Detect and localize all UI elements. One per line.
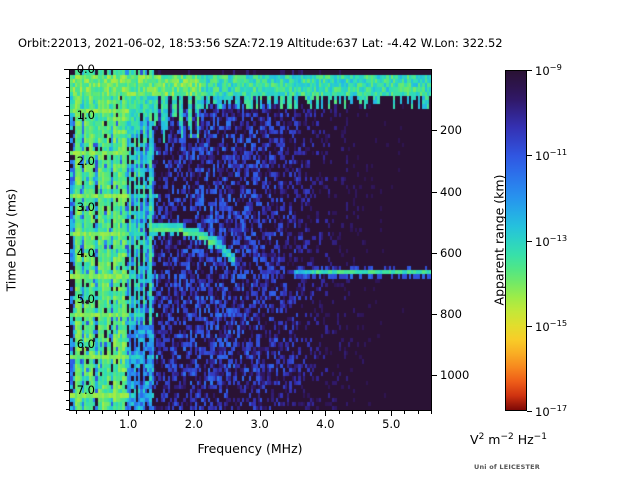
x-tick xyxy=(260,411,261,416)
x-minor-tick xyxy=(154,411,155,414)
x-tick-label: 4.0 xyxy=(316,417,334,431)
x-minor-tick xyxy=(233,411,234,414)
institution-credit: Uni of LEICESTER xyxy=(474,463,540,471)
y-axis-title: Time Delay (ms) xyxy=(4,189,19,292)
colorbar-tick-label: 10−17 xyxy=(535,403,567,419)
x-minor-tick xyxy=(352,411,353,414)
colorbar xyxy=(505,70,527,411)
x-minor-tick xyxy=(168,411,169,414)
ionogram-heatmap-axes xyxy=(69,69,432,411)
x-tick xyxy=(194,411,195,416)
colorbar-tick-label: 10−15 xyxy=(535,318,567,334)
y2-tick xyxy=(432,253,437,254)
y2-tick-label: 800 xyxy=(440,307,462,321)
x-minor-tick xyxy=(220,411,221,414)
x-minor-tick xyxy=(141,411,142,414)
x-tick-label: 3.0 xyxy=(251,417,269,431)
x-minor-tick xyxy=(339,411,340,414)
x-tick xyxy=(325,411,326,416)
x-minor-tick xyxy=(404,411,405,414)
heatmap-canvas xyxy=(70,70,431,410)
x-minor-tick xyxy=(273,411,274,414)
y2-tick xyxy=(432,192,437,193)
y2-tick-label: 1000 xyxy=(440,368,469,382)
x-minor-tick xyxy=(418,411,419,414)
plot-title: Orbit:22013, 2021-06-02, 18:53:56 SZA:72… xyxy=(18,36,503,50)
y2-tick-label: 200 xyxy=(440,123,462,137)
y2-tick-label: 600 xyxy=(440,246,462,260)
x-minor-tick xyxy=(365,411,366,414)
x-tick-label: 2.0 xyxy=(185,417,203,431)
x-minor-tick xyxy=(115,411,116,414)
x-minor-tick xyxy=(181,411,182,414)
y2-tick xyxy=(432,314,437,315)
x-tick-label: 1.0 xyxy=(119,417,137,431)
colorbar-tick xyxy=(527,241,532,242)
x-minor-tick xyxy=(89,411,90,414)
x-minor-tick xyxy=(102,411,103,414)
x-minor-tick xyxy=(247,411,248,414)
colorbar-tick-label: 10−13 xyxy=(535,233,567,249)
colorbar-gradient xyxy=(506,71,526,410)
x-minor-tick xyxy=(286,411,287,414)
colorbar-tick-label: 10−11 xyxy=(535,147,567,163)
colorbar-tick xyxy=(527,326,532,327)
x-minor-tick xyxy=(378,411,379,414)
x-minor-tick xyxy=(76,411,77,414)
x-axis-title: Frequency (MHz) xyxy=(197,441,302,456)
colorbar-tick xyxy=(527,411,532,412)
colorbar-tick-label: 10−9 xyxy=(535,62,562,78)
x-tick-label: 5.0 xyxy=(382,417,400,431)
colorbar-tick xyxy=(527,70,532,71)
y2-tick xyxy=(432,375,437,376)
x-minor-tick xyxy=(207,411,208,414)
colorbar-tick xyxy=(527,155,532,156)
x-tick xyxy=(128,411,129,416)
x-minor-tick xyxy=(431,411,432,414)
x-tick xyxy=(391,411,392,416)
x-minor-tick xyxy=(299,411,300,414)
y2-tick xyxy=(432,130,437,131)
colorbar-unit-label: V2 m−2 Hz−1 xyxy=(470,432,547,447)
x-minor-tick xyxy=(312,411,313,414)
ionogram-figure: Orbit:22013, 2021-06-02, 18:53:56 SZA:72… xyxy=(0,0,640,480)
y2-tick-label: 400 xyxy=(440,185,462,199)
